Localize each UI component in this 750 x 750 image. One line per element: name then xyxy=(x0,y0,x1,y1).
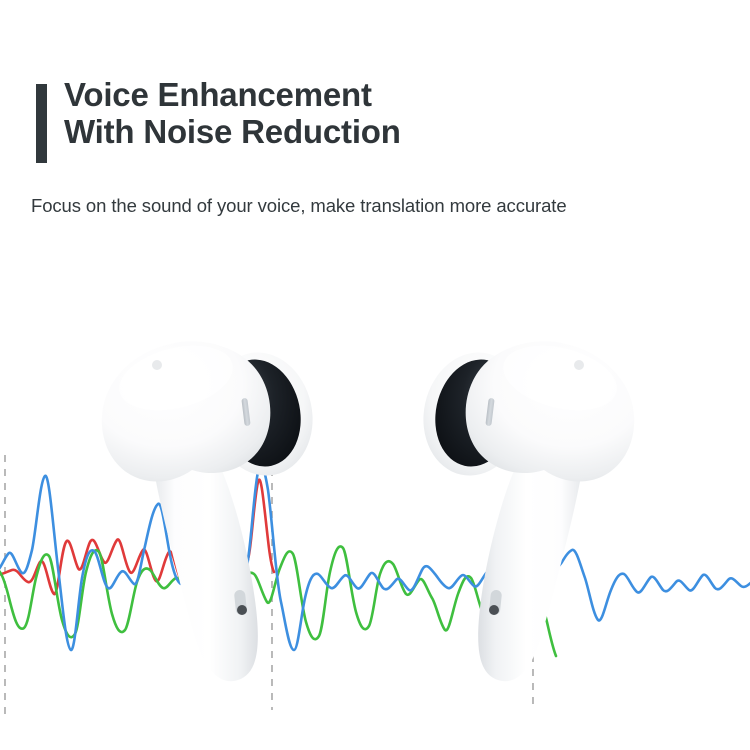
waveform-group xyxy=(0,465,750,656)
header-section: Voice Enhancement With Noise Reduction F… xyxy=(0,0,750,250)
led-dot-icon xyxy=(152,360,162,370)
title-line-2: With Noise Reduction xyxy=(64,113,724,150)
page-subtitle: Focus on the sound of your voice, make t… xyxy=(31,194,567,218)
left-earbud xyxy=(102,335,324,681)
title-line-1: Voice Enhancement xyxy=(64,76,724,113)
page-title: Voice Enhancement With Noise Reduction xyxy=(64,76,724,150)
promo-page: Voice Enhancement With Noise Reduction F… xyxy=(0,0,750,750)
accent-bar xyxy=(36,84,47,163)
led-dot-icon xyxy=(574,360,584,370)
waveform-signal-blue xyxy=(0,465,750,650)
illustration-stage xyxy=(0,250,750,750)
